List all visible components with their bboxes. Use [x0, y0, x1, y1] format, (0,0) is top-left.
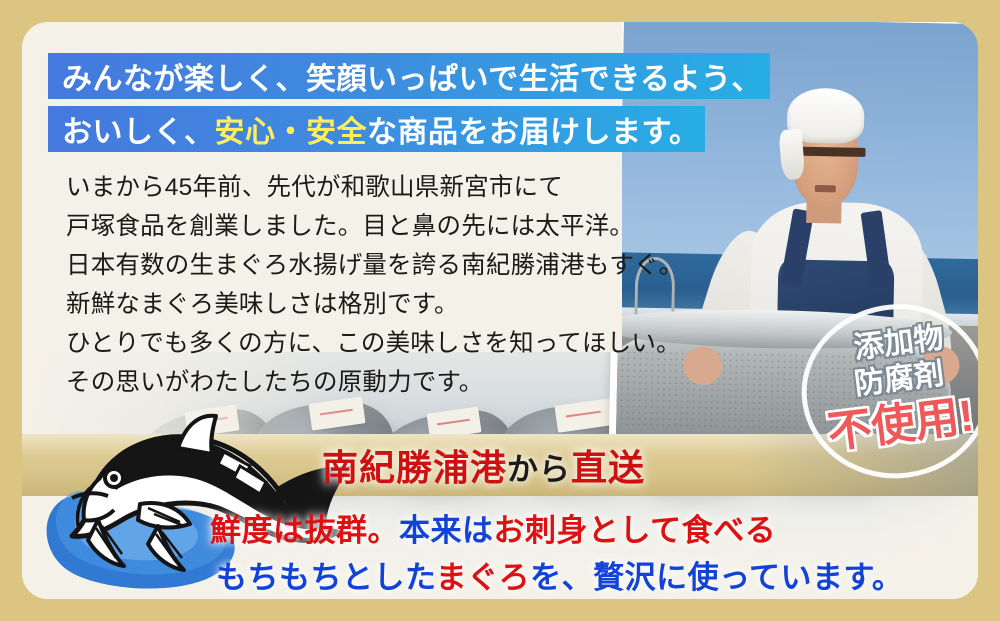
- no-additives-stamp: 添加物 防腐剤 不使用!: [796, 299, 978, 473]
- tagline-line-1: 鮮度は抜群。本来はお刺身として食べる: [210, 505, 776, 550]
- body-copy: いまから45年前、先代が和歌山県新宮市にて 戸塚食品を創業しました。目と鼻の先に…: [66, 168, 656, 402]
- mouth: [815, 185, 836, 192]
- direct-ship-word: 直送: [571, 447, 645, 488]
- headline-line-1: みんなが楽しく、笑顔いっぱいで生活できるよう、: [62, 54, 762, 98]
- direct-ship-kara: から: [507, 452, 571, 487]
- inner-panel: みんなが楽しく、笑顔いっぱいで生活できるよう、 おいしく、安心・安全な商品をお届…: [22, 22, 978, 599]
- tagline-2-seg-1: もちもちとした: [216, 560, 436, 595]
- tagline-1-seg-2: 本来は: [399, 513, 494, 548]
- direct-ship-heading: 南紀勝浦港から直送: [322, 439, 645, 491]
- tagline-1-seg-1: 鮮度は抜群。: [210, 513, 399, 548]
- headline-bar-2: おいしく、安心・安全な商品をお届けします。: [48, 106, 705, 152]
- body-line: その思いがわたしたちの原動力です。: [66, 363, 656, 402]
- eye-right: [831, 147, 866, 157]
- body-line: ひとりでも多くの方に、この美味しさを知ってほしい。: [66, 324, 656, 363]
- tagline-line-2: もちもちとしたまぐろを、贅沢に使っています。: [216, 552, 903, 597]
- body-line: 戸塚食品を創業しました。目と鼻の先には太平洋。: [66, 207, 656, 246]
- headline-line-2-post: な商品をお届けします。: [367, 107, 700, 151]
- headline-bar-1: みんなが楽しく、笑顔いっぱいで生活できるよう、: [48, 53, 770, 99]
- promo-banner: みんなが楽しく、笑顔いっぱいで生活できるよう、 おいしく、安心・安全な商品をお届…: [0, 0, 1000, 621]
- body-line: 日本有数の生まぐろ水揚げ量を誇る南紀勝浦港もすぐ。: [66, 246, 656, 285]
- tagline-2-seg-3: を、贅沢に使っています。: [530, 560, 903, 595]
- tagline-2-seg-2: まぐろ: [436, 560, 531, 595]
- body-line: 新鮮なまぐろ美味しさは格別です。: [66, 285, 656, 324]
- headline-emphasis: 安心・安全: [215, 107, 368, 151]
- tagline-1-seg-3: お刺身として食べる: [494, 513, 777, 548]
- headline-line-2-pre: おいしく、: [62, 107, 215, 151]
- body-line: いまから45年前、先代が和歌山県新宮市にて: [66, 168, 656, 207]
- direct-ship-port: 南紀勝浦港: [322, 447, 507, 488]
